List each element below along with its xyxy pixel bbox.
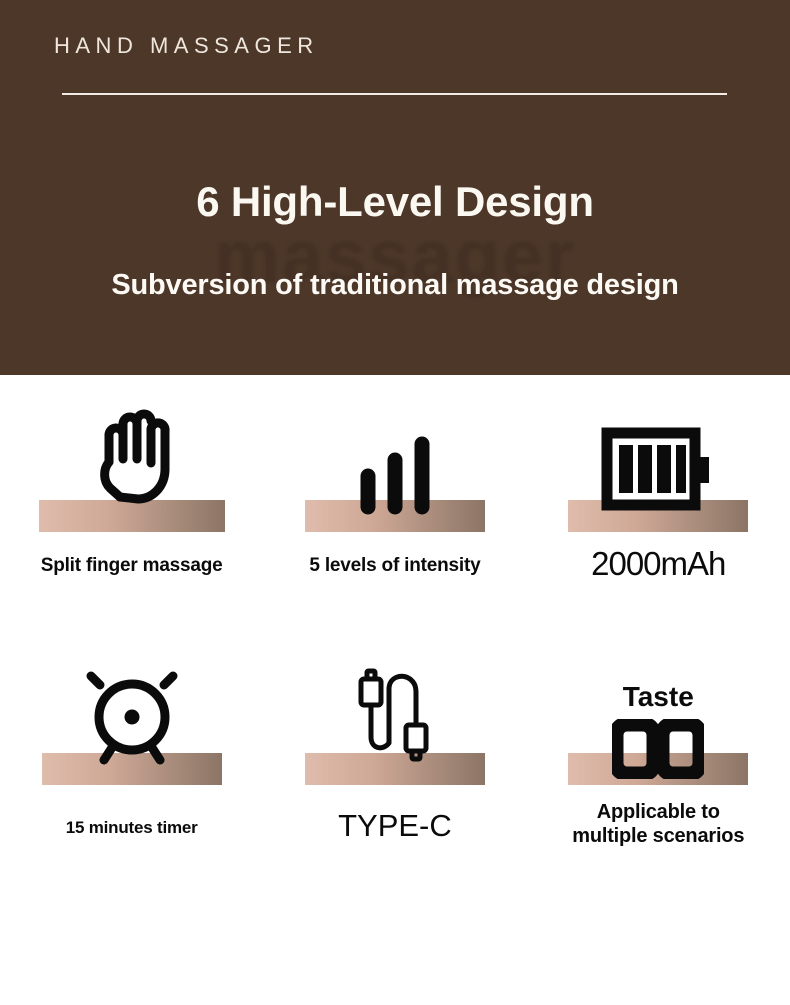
- two-squares-icon: [612, 719, 704, 784]
- page-subtitle: Subversion of traditional massage design: [0, 269, 790, 302]
- usb-cable-icon: [350, 663, 440, 780]
- feature-item-split-finger-massage: Split finger massage: [0, 403, 263, 633]
- signal-bars-icon: [353, 427, 437, 524]
- feature-item-timer: 15 minutes timer: [0, 663, 263, 893]
- battery-icon: [599, 421, 717, 522]
- page-title: 6 High-Level Design: [0, 178, 790, 226]
- feature-label: 15 minutes timer: [0, 818, 263, 838]
- hero-banner: massager HAND MASSAGER 6 High-Level Desi…: [0, 0, 790, 375]
- hero-divider: [62, 93, 727, 95]
- feature-label: 5 levels of intensity: [263, 555, 526, 577]
- feature-label: 2000mAh: [527, 545, 790, 584]
- feature-label: Applicable to multiple scenarios: [527, 801, 790, 848]
- taste-caption: Taste: [527, 681, 790, 713]
- feature-item-battery-capacity: 2000mAh: [527, 403, 790, 633]
- feature-label: TYPE-C: [263, 808, 526, 845]
- brand-eyebrow: HAND MASSAGER: [54, 33, 319, 59]
- feature-row: 15 minutes timer: [0, 663, 790, 893]
- feature-grid: Split finger massage 5 levels of intensi…: [0, 375, 790, 1005]
- hand-icon: [76, 407, 188, 516]
- product-feature-page: massager HAND MASSAGER 6 High-Level Desi…: [0, 0, 790, 1005]
- feature-item-type-c: TYPE-C: [263, 663, 526, 893]
- feature-item-intensity-levels: 5 levels of intensity: [263, 403, 526, 633]
- feature-item-multiple-scenarios: Taste Applicable to multiple scenarios: [527, 663, 790, 893]
- feature-label: Split finger massage: [0, 555, 263, 577]
- alarm-clock-icon: [80, 665, 184, 776]
- feature-row: Split finger massage 5 levels of intensi…: [0, 403, 790, 633]
